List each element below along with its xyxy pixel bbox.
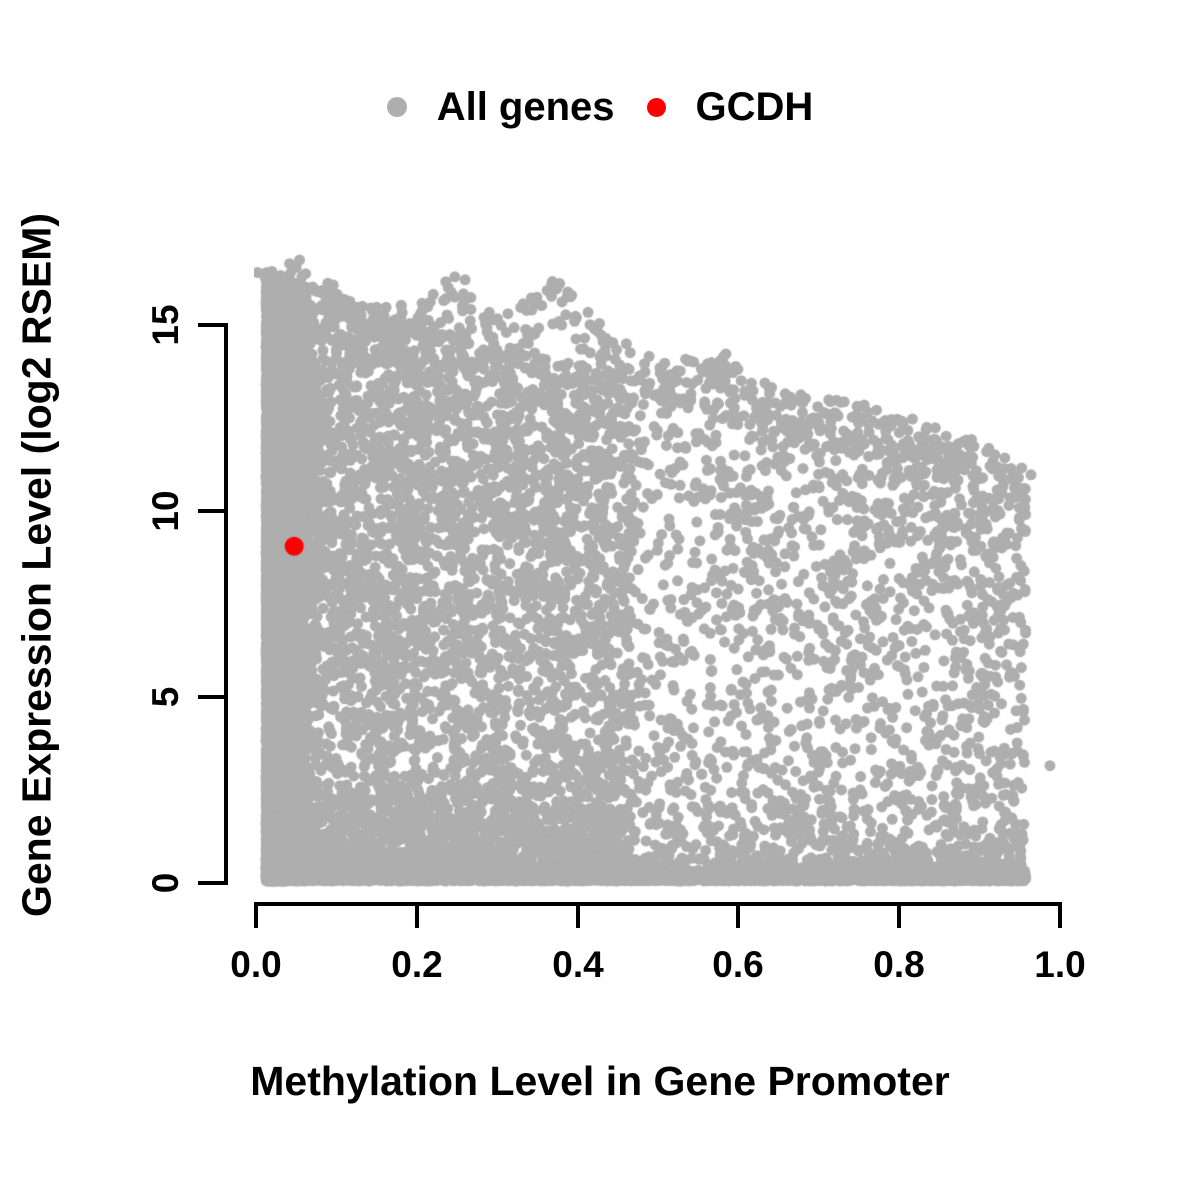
x-tick-label-0: 0.0 <box>230 944 281 986</box>
y-tick-label-2: 10 <box>145 490 187 531</box>
x-axis-tick <box>415 902 419 928</box>
legend-label-gcdh: GCDH <box>696 85 814 130</box>
x-axis-tick <box>576 902 580 928</box>
x-tick-label-2: 0.4 <box>552 944 603 986</box>
y-axis-tick <box>198 509 228 513</box>
y-axis-tick <box>198 695 228 699</box>
legend-item-all-genes: All genes <box>387 85 615 130</box>
y-axis-spine <box>224 323 228 885</box>
y-axis-title: Gene Expression Level (log2 RSEM) <box>14 213 61 917</box>
scatter-plot-figure: All genes GCDH 0.00.20.40.60.81.0051015 … <box>0 0 1200 1200</box>
data-points-layer <box>254 240 1059 900</box>
x-axis-tick <box>1058 902 1062 928</box>
x-axis-tick <box>736 902 740 928</box>
x-tick-label-3: 0.6 <box>712 944 763 986</box>
x-axis-tick <box>254 902 258 928</box>
plot-area <box>254 240 1059 900</box>
y-axis-tick <box>198 323 228 327</box>
y-tick-label-1: 5 <box>145 687 187 708</box>
legend: All genes GCDH <box>0 78 1200 136</box>
legend-label-all-genes: All genes <box>437 85 615 130</box>
y-tick-label-0: 0 <box>145 873 187 894</box>
x-axis-tick <box>897 902 901 928</box>
x-axis-spine <box>254 902 1062 906</box>
x-tick-label-4: 0.8 <box>873 944 924 986</box>
y-axis-tick <box>198 881 228 885</box>
x-axis-title: Methylation Level in Gene Promoter <box>0 1058 1200 1105</box>
y-tick-label-3: 15 <box>145 304 187 345</box>
grey-dot-icon <box>387 97 407 117</box>
legend-item-gcdh: GCDH <box>647 85 814 130</box>
x-tick-label-1: 0.2 <box>391 944 442 986</box>
red-dot-icon <box>647 98 666 117</box>
x-tick-label-5: 1.0 <box>1034 944 1085 986</box>
y-axis-title-wrapper: Gene Expression Level (log2 RSEM) <box>8 150 66 980</box>
